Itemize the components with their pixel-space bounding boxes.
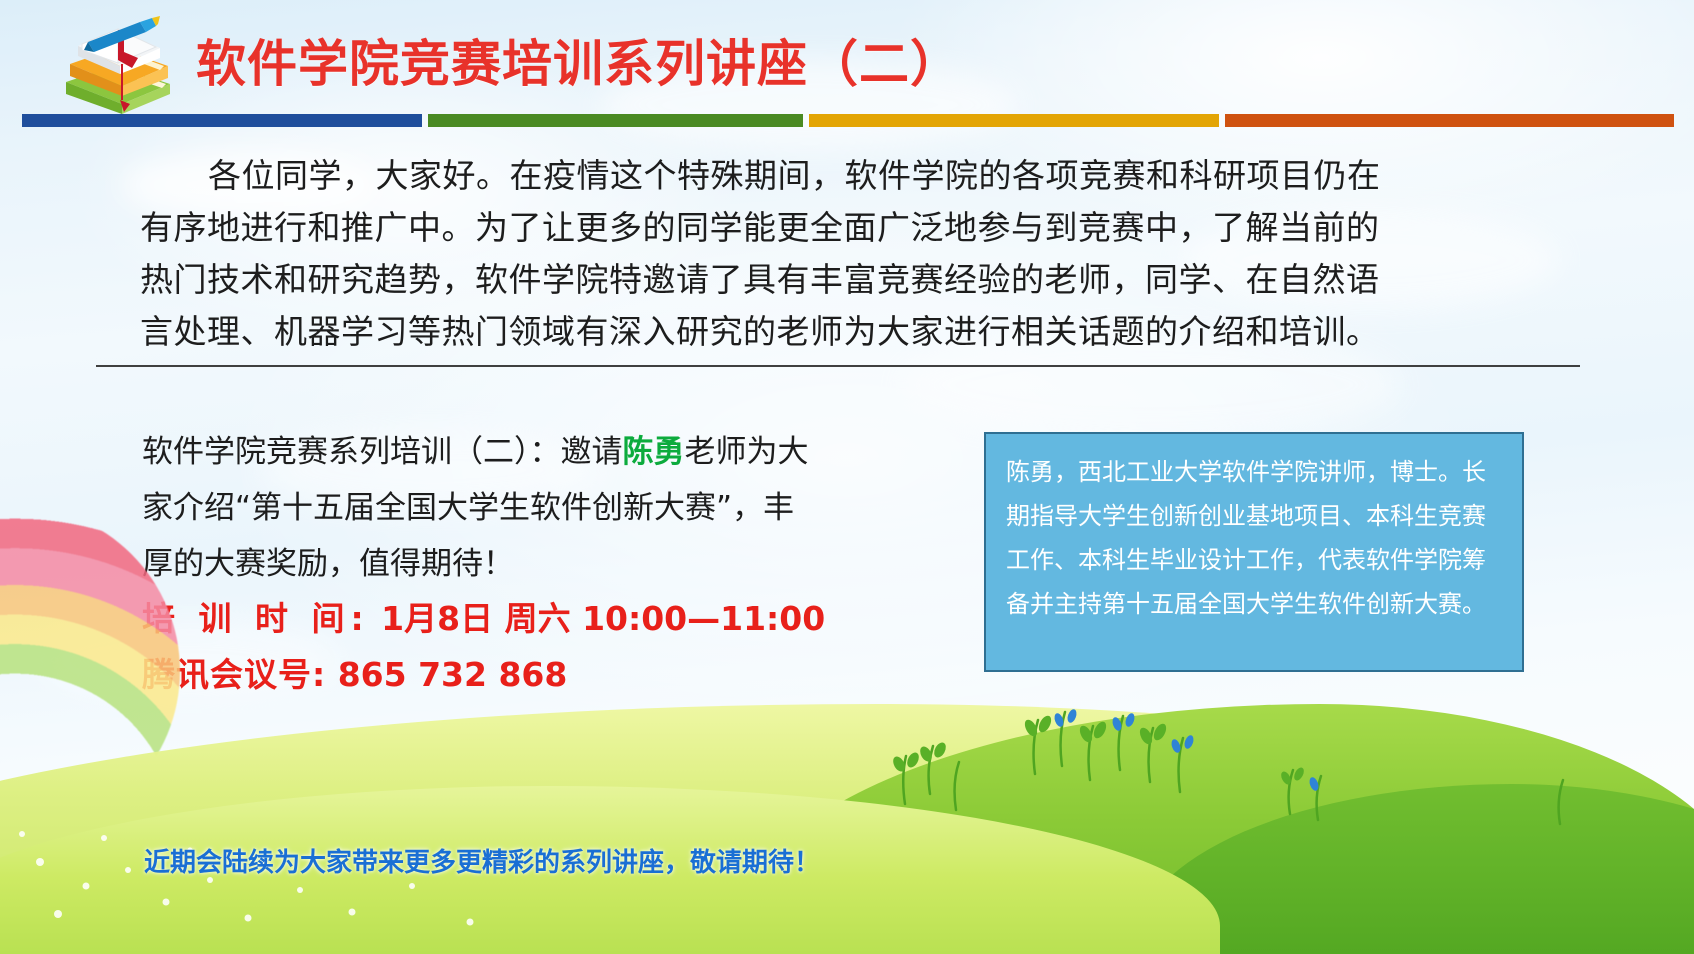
meeting-id-row: 腾讯会议号: 865 732 868 [142, 648, 567, 696]
meeting-id-label: 腾讯会议号: [142, 655, 326, 694]
training-time-value: 1月8日 周六 10:00—11:00 [381, 599, 825, 638]
header-color-bar [22, 114, 1674, 127]
session-description: 软件学院竞赛系列培训（二）：邀请陈勇老师为大家介绍“第十五届全国大学生软件创新大… [142, 424, 822, 592]
footer-tagline: 近期会陆续为大家带来更多更精彩的系列讲座，敬请期待！ [144, 842, 820, 879]
color-bar-segment-green [428, 114, 803, 127]
poster-canvas: 软件学院竞赛培训系列讲座（二） 各位同学，大家好。在疫情这个特殊期间，软件学院的… [0, 0, 1694, 954]
hill-background [0, 704, 1694, 954]
color-bar-segment-blue [22, 114, 422, 127]
stacked-books-with-pen-icon [48, 8, 188, 120]
section-divider [96, 365, 1580, 367]
hill-right [734, 704, 1694, 954]
page-title: 软件学院竞赛培训系列讲座（二） [196, 24, 961, 96]
intro-paragraph: 各位同学，大家好。在疫情这个特殊期间，软件学院的各项竞赛和科研项目仍在有序地进行… [140, 150, 1400, 358]
lecturer-name: 陈勇 [623, 434, 685, 470]
speaker-bio-box: 陈勇，西北工业大学软件学院讲师，博士。长期指导大学生创新创业基地项目、本科生竞赛… [984, 432, 1524, 672]
training-time-label: 培 训 时 间: [142, 599, 370, 638]
session-lead-before: 软件学院竞赛系列培训（二）：邀请 [142, 434, 623, 470]
color-bar-segment-gold [809, 114, 1219, 127]
color-bar-segment-orange [1225, 114, 1674, 127]
hill-right-dark [1134, 784, 1694, 954]
training-time-row: 培 训 时 间: 1月8日 周六 10:00—11:00 [142, 592, 825, 640]
meeting-id-value: 865 732 868 [338, 655, 568, 694]
